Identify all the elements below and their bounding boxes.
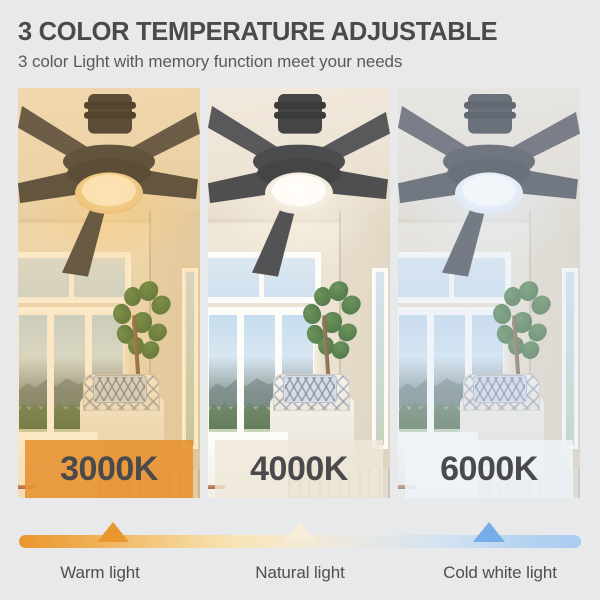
cool-marker[interactable] xyxy=(473,522,505,542)
color-temperature-slider[interactable]: Warm light Natural light Cold white ligh… xyxy=(0,505,600,600)
side-window xyxy=(372,268,388,448)
slider-captions: Warm light Natural light Cold white ligh… xyxy=(0,563,600,583)
ceiling-fan-icon xyxy=(398,88,580,277)
ceiling-fan-cool xyxy=(398,88,580,277)
throw-cushion xyxy=(473,375,527,403)
page-title: 3 COLOR TEMPERATURE ADJUSTABLE xyxy=(18,18,600,47)
kelvin-band-warm: 3000K xyxy=(25,440,193,498)
caption-warm: Warm light xyxy=(0,563,200,583)
armchair-back xyxy=(463,374,540,411)
color-temperature-panels: 3000K xyxy=(18,88,582,498)
cushion-pattern xyxy=(95,377,145,401)
tree-foliage xyxy=(109,277,179,382)
warm-marker[interactable] xyxy=(97,522,129,542)
tree-foliage xyxy=(299,277,369,382)
ceiling-fan-warm xyxy=(18,88,200,277)
room-scene-natural xyxy=(208,88,390,498)
kelvin-label: 3000K xyxy=(60,452,158,486)
ceiling-fan-natural xyxy=(208,88,390,277)
cushion-pattern xyxy=(475,377,525,401)
throw-cushion xyxy=(93,375,147,403)
side-window xyxy=(182,268,198,448)
kelvin-label: 4000K xyxy=(250,452,348,486)
caption-natural: Natural light xyxy=(200,563,400,583)
cushion-pattern xyxy=(285,377,335,401)
side-window xyxy=(562,268,578,448)
caption-cool: Cold white light xyxy=(400,563,600,583)
kelvin-band-cool: 6000K xyxy=(405,440,573,498)
panel-warm[interactable]: 3000K xyxy=(18,88,200,498)
panel-cool[interactable]: 6000K xyxy=(398,88,580,498)
tree-foliage xyxy=(489,277,559,382)
armchair-back xyxy=(273,374,350,411)
kelvin-band-natural: 4000K xyxy=(215,440,383,498)
kelvin-label: 6000K xyxy=(440,452,538,486)
header: 3 COLOR TEMPERATURE ADJUSTABLE 3 color L… xyxy=(0,0,600,72)
panel-natural[interactable]: 4000K xyxy=(208,88,390,498)
armchair-back xyxy=(83,374,160,411)
natural-marker[interactable] xyxy=(284,522,316,542)
room-scene-cool xyxy=(398,88,580,498)
ceiling-fan-icon xyxy=(208,88,390,277)
page-subtitle: 3 color Light with memory function meet … xyxy=(18,52,600,72)
throw-cushion xyxy=(283,375,337,403)
room-scene-warm xyxy=(18,88,200,498)
ceiling-fan-icon xyxy=(18,88,200,277)
